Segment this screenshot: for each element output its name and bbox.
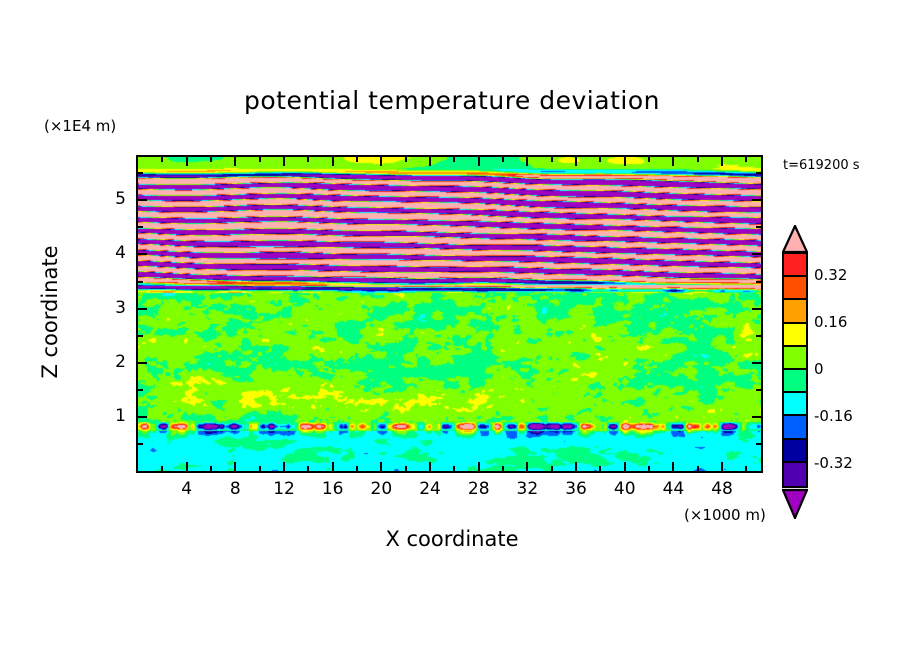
y-tick-minor (138, 443, 143, 445)
x-tick-minor-top (697, 157, 699, 162)
y-tick-label: 1 (96, 406, 126, 426)
x-tick-minor-top (307, 157, 309, 162)
colorbar-swatch (784, 347, 806, 370)
x-tick-minor (502, 466, 504, 471)
y-tick-label: 4 (96, 243, 126, 263)
x-tick-major (672, 462, 674, 471)
x-tick-label: 44 (653, 479, 693, 499)
x-tick-minor (307, 466, 309, 471)
y-tick-minor-right (756, 172, 761, 174)
x-tick-major (526, 462, 528, 471)
x-tick-major (624, 462, 626, 471)
x-tick-minor (453, 466, 455, 471)
colorbar-swatch (784, 370, 806, 393)
colorbar-swatch (784, 463, 806, 486)
x-tick-label: 28 (459, 479, 499, 499)
y-tick-minor-right (756, 443, 761, 445)
x-tick-label: 8 (215, 479, 255, 499)
x-tick-minor (405, 466, 407, 471)
colorbar-swatch (784, 324, 806, 347)
y-tick-major-right (752, 308, 761, 310)
colorbar-tick-label: 0.16 (814, 313, 847, 331)
x-tick-label: 20 (361, 479, 401, 499)
y-tick-major-right (752, 199, 761, 201)
x-tick-major-top (332, 157, 334, 166)
z-axis-title: Z coordinate (38, 202, 62, 422)
x-tick-major-top (429, 157, 431, 166)
x-tick-minor-top (648, 157, 650, 162)
x-tick-major (332, 462, 334, 471)
y-tick-major (138, 362, 147, 364)
colorbar-swatch (784, 277, 806, 300)
colorbar-tick-label: 0 (814, 360, 824, 378)
x-tick-major-top (234, 157, 236, 166)
x-tick-minor-top (502, 157, 504, 162)
colorbar-swatch (784, 393, 806, 416)
y-tick-major (138, 199, 147, 201)
y-tick-major (138, 308, 147, 310)
colorbar-swatch (784, 416, 806, 439)
colorbar-tick-label: -0.32 (814, 454, 853, 472)
x-tick-minor (697, 466, 699, 471)
x-tick-minor-top (453, 157, 455, 162)
x-tick-major-top (186, 157, 188, 166)
x-tick-minor-top (405, 157, 407, 162)
x-tick-minor-top (356, 157, 358, 162)
x-tick-major (429, 462, 431, 471)
y-tick-label: 2 (96, 352, 126, 372)
x-tick-minor-top (599, 157, 601, 162)
x-tick-major-top (283, 157, 285, 166)
y-tick-minor-right (756, 389, 761, 391)
colorbar-over-arrow-icon (782, 225, 808, 253)
x-tick-minor-top (210, 157, 212, 162)
colorbar-under-arrow-icon (782, 487, 808, 519)
y-tick-minor-right (756, 281, 761, 283)
colorbar-swatch (784, 254, 806, 277)
x-tick-minor-top (745, 157, 747, 162)
colorbar-tick-label: 0.32 (814, 266, 847, 284)
x-tick-major (283, 462, 285, 471)
x-tick-major-top (575, 157, 577, 166)
figure-root: potential temperature deviation (×1E4 m)… (0, 0, 904, 654)
y-tick-minor (138, 389, 143, 391)
x-tick-major (186, 462, 188, 471)
x-tick-minor-top (259, 157, 261, 162)
z-axis-unit-label: (×1E4 m) (44, 117, 116, 135)
x-tick-label: 32 (507, 479, 547, 499)
x-tick-label: 4 (167, 479, 207, 499)
colorbar-swatch (784, 300, 806, 323)
y-tick-major-right (752, 362, 761, 364)
colorbar (782, 252, 808, 488)
y-tick-major-right (752, 253, 761, 255)
colorbar-swatch (784, 440, 806, 463)
x-tick-major (478, 462, 480, 471)
x-tick-label: 40 (605, 479, 645, 499)
x-tick-major-top (721, 157, 723, 166)
x-tick-major (234, 462, 236, 471)
y-tick-minor (138, 226, 143, 228)
x-tick-minor (210, 466, 212, 471)
x-tick-major (380, 462, 382, 471)
y-tick-minor (138, 335, 143, 337)
y-tick-label: 5 (96, 189, 126, 209)
x-tick-major-top (526, 157, 528, 166)
x-tick-label: 36 (556, 479, 596, 499)
x-tick-minor (648, 466, 650, 471)
x-axis-unit-label: (×1000 m) (684, 506, 766, 524)
y-tick-major-right (752, 416, 761, 418)
y-tick-minor (138, 281, 143, 283)
y-tick-minor-right (756, 335, 761, 337)
y-tick-major (138, 416, 147, 418)
x-tick-major-top (672, 157, 674, 166)
contour-plot-area (136, 155, 763, 473)
page-title: potential temperature deviation (0, 86, 904, 115)
contour-field-canvas (138, 157, 761, 471)
colorbar-tick-label: -0.16 (814, 407, 853, 425)
x-tick-minor (599, 466, 601, 471)
x-tick-major-top (624, 157, 626, 166)
x-tick-label: 16 (313, 479, 353, 499)
x-axis-title: X coordinate (252, 527, 652, 551)
x-tick-label: 24 (410, 479, 450, 499)
x-tick-major-top (478, 157, 480, 166)
x-tick-minor (161, 466, 163, 471)
y-tick-label: 3 (96, 298, 126, 318)
y-tick-major (138, 253, 147, 255)
x-tick-label: 48 (702, 479, 742, 499)
x-tick-minor (356, 466, 358, 471)
x-tick-minor-top (161, 157, 163, 162)
x-tick-minor (745, 466, 747, 471)
x-tick-label: 12 (264, 479, 304, 499)
x-tick-minor-top (551, 157, 553, 162)
x-tick-major (721, 462, 723, 471)
x-tick-major-top (380, 157, 382, 166)
timestamp-annotation: t=619200 s (783, 158, 860, 173)
x-tick-minor (551, 466, 553, 471)
y-tick-minor (138, 172, 143, 174)
x-tick-major (575, 462, 577, 471)
x-tick-minor (259, 466, 261, 471)
y-tick-minor-right (756, 226, 761, 228)
